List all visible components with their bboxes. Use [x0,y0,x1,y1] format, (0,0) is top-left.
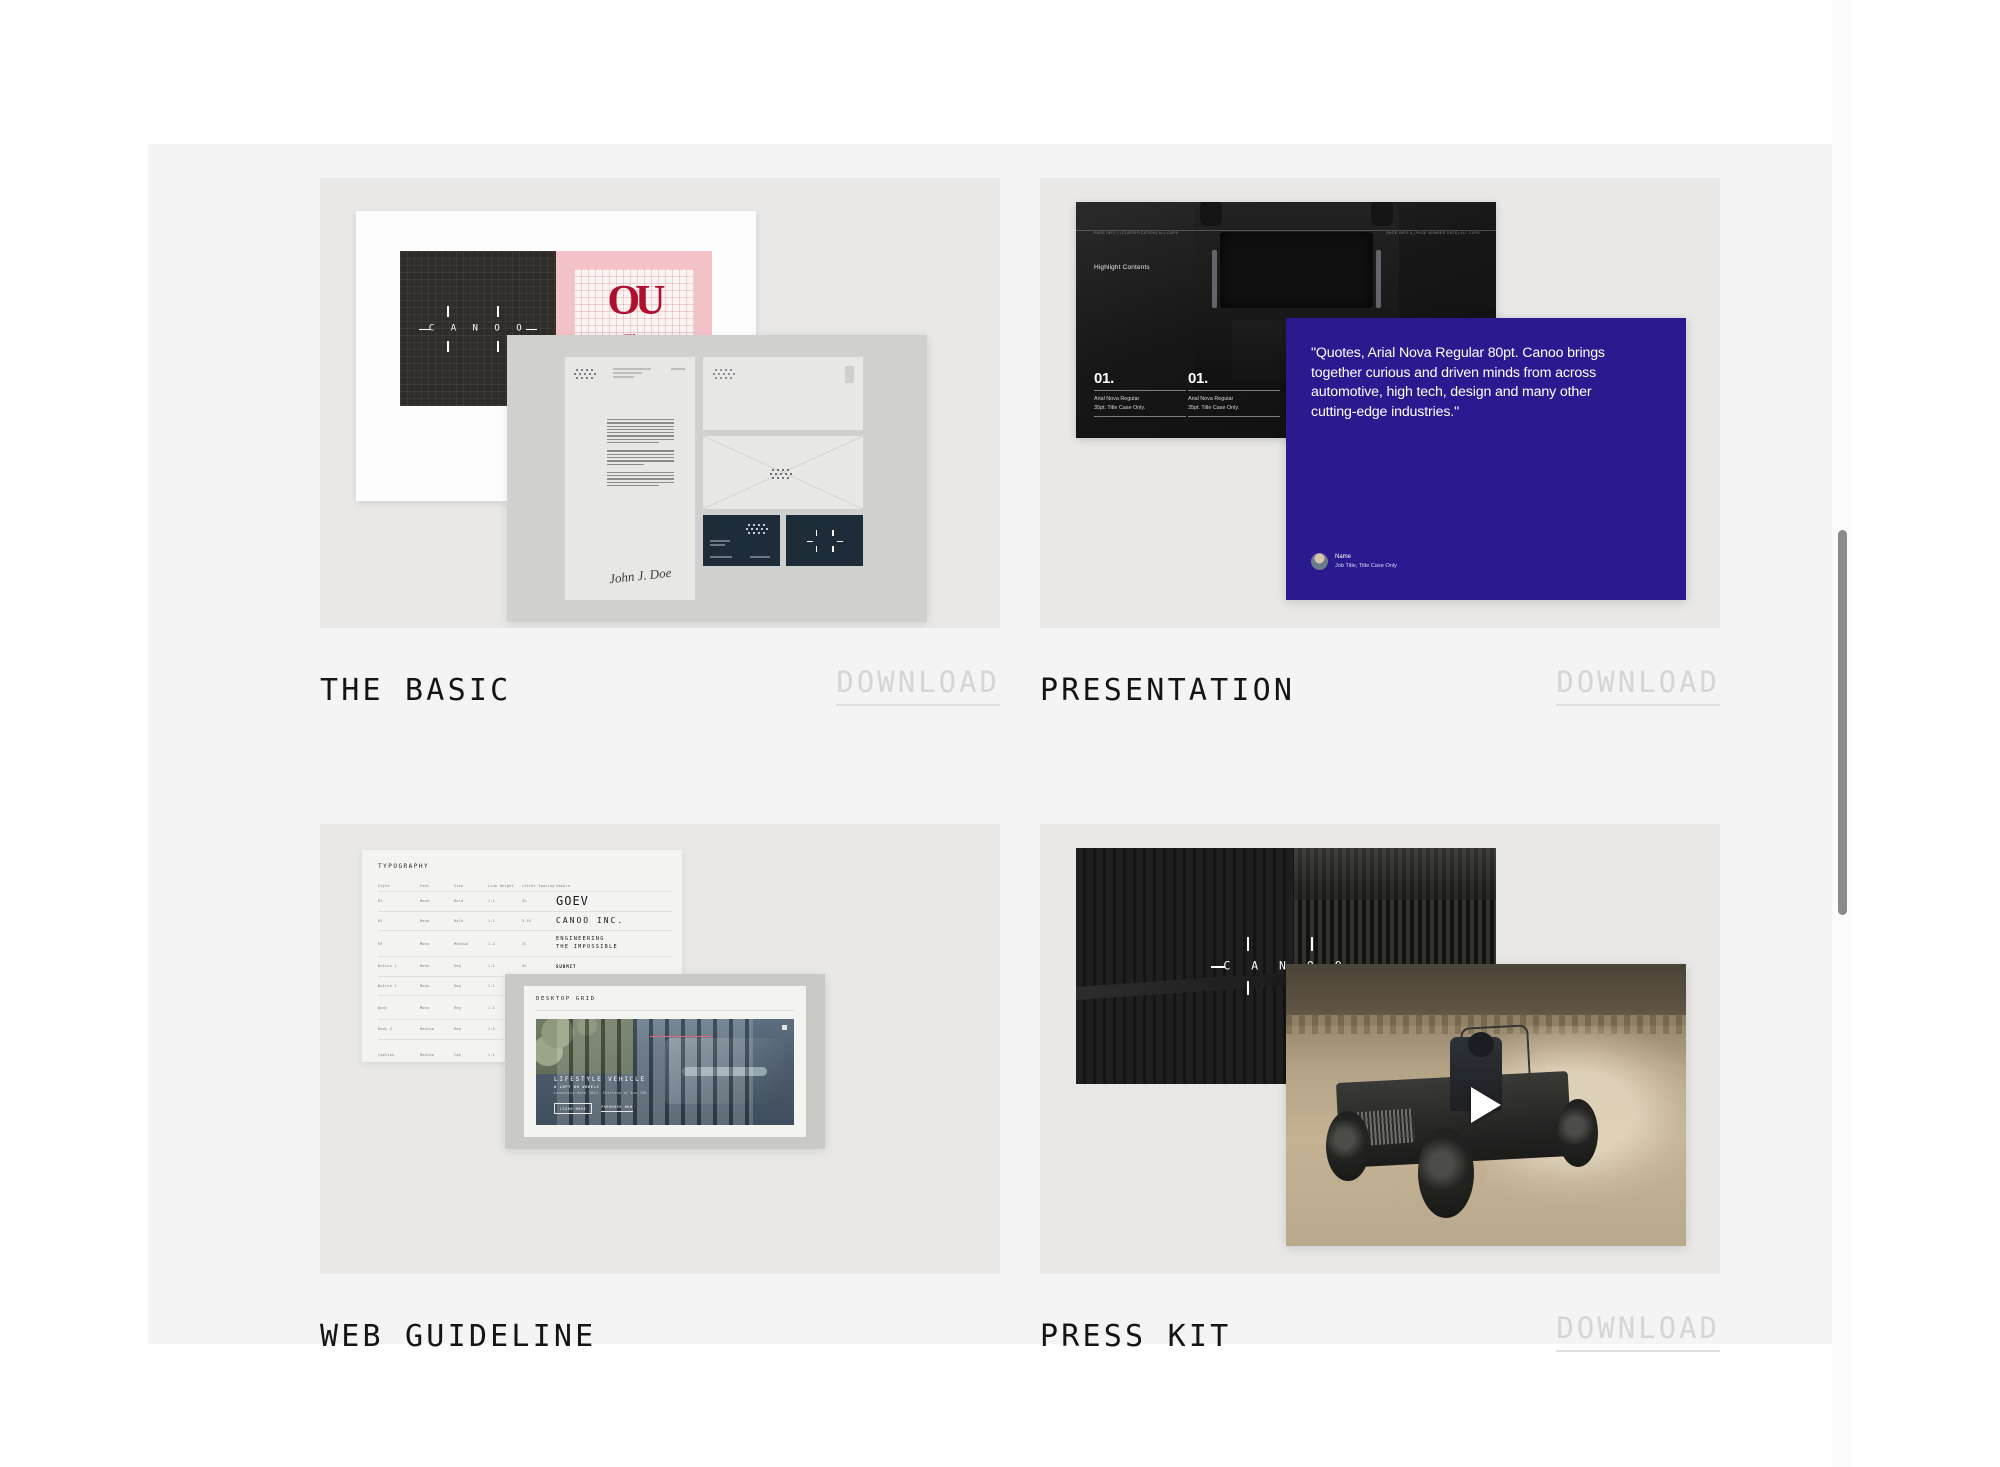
letterhead-address [613,368,655,380]
desktop-grid-sheet: DESKTOP GRID LIFESTYLE VEHICLE A LOFT ON… [505,974,825,1149]
quote-author-role: Job Title, Title Case Only [1335,562,1397,570]
postcard-mock [703,357,863,430]
canoo-logo [807,530,843,552]
cell-style: Button 2 [378,984,420,988]
asset-card-web-guideline[interactable]: TYPOGRAPHY Style Font Size Line Height L… [320,824,1000,1352]
cell-font: Mono [420,899,454,903]
desktop-hero-image: LIFESTYLE VEHICLE A LOFT ON WHEELS Launc… [536,1019,794,1125]
table-row: H3 Mono Medium 1.4 3% ENGINEERING THE IM… [378,931,672,957]
canoo-dots-mark [770,467,796,479]
scrollbar-thumb[interactable] [1838,530,1847,915]
cell-font: Medium [420,1027,454,1031]
asset-card-the-basic[interactable]: C A N O O OU The [320,178,1000,706]
cell-tracking: 3.5% [522,919,556,923]
download-link[interactable]: DOWNLOAD [836,668,1000,706]
column-header: Line Height [488,884,522,888]
download-link[interactable]: DOWNLOAD [1556,668,1720,706]
asset-meta-web-guideline: WEB GUIDELINE DOWNLOAD [320,1318,1000,1352]
stationery-mockup: John J. Doe [507,335,927,622]
play-triangle-icon[interactable] [1471,1087,1501,1123]
hero-subheading: A LOFT ON WHEELS [554,1085,647,1089]
cell-font: Mono [420,942,454,946]
cell-style: Button 1 [378,964,420,968]
canoo-dots-mark [746,522,772,534]
cell-line-height: 1.4 [488,942,522,946]
cell-style: H3 [378,942,420,946]
cell-sample: CANOO INC. [556,916,672,925]
column-header: Letter Spacing [522,884,556,888]
asset-title: PRESS KIT [1040,1322,1231,1352]
cell-line-height: 1.1 [488,919,522,923]
press-video-thumbnail[interactable] [1286,964,1686,1246]
cell-size: Reg [454,984,488,988]
slide-column-number: 01. [1094,371,1186,386]
postage-stamp [845,366,854,383]
desktop-grid-page: DESKTOP GRID LIFESTYLE VEHICLE A LOFT ON… [524,986,806,1137]
cell-font: Mono [420,964,454,968]
cell-font: Mono [420,984,454,988]
asset-meta-press-kit: PRESS KIT DOWNLOAD [1040,1318,1720,1352]
cell-style: Body 2 [378,1027,420,1031]
redline-marker [650,1036,712,1037]
slide-section-label: Highlight Contents [1094,264,1150,271]
hero-buttons: LEARN MORE PREORDER NOW [554,1103,633,1114]
asset-title: PRESENTATION [1040,676,1295,706]
cell-tracking: 4% [522,964,556,968]
asset-grid: C A N O O OU The [320,178,1700,1352]
cell-size: Cap [454,1053,488,1057]
typography-sheet-title: TYPOGRAPHY [378,863,429,870]
ceiling-light [1294,848,1496,900]
cell-tracking: 3% [522,899,556,903]
canoo-wordmark: C A N O O [429,324,527,333]
asset-thumbnail-presentation[interactable]: PAGE INFO / (CLASSIFICATION) ALL CAPS PA… [1040,178,1720,628]
canoo-dots-mark [574,367,600,379]
cell-line-height: 1.1 [488,899,522,903]
cell-style: Caption [378,1053,420,1057]
cell-font: Mono [420,1006,454,1010]
slide-column: 01. Arial Nova Regular 35pt. Title Case … [1188,371,1280,421]
cell-size: Medium [454,942,488,946]
desktop-grid-title: DESKTOP GRID [536,996,596,1002]
cell-size: Reg [454,964,488,968]
slide-column: 01. Arial Nova Regular 35pt. Title Case … [1094,371,1186,421]
cell-font: Medium [420,1053,454,1057]
asset-card-presentation[interactable]: PAGE INFO / (CLASSIFICATION) ALL CAPS PA… [1040,178,1720,706]
slide-column-number: 01. [1188,371,1280,386]
slide-column-caption-2: 35pt. Title Case Only. [1094,404,1186,412]
envelope-mock [703,436,863,509]
learn-more-button[interactable]: LEARN MORE [554,1103,592,1114]
business-card-front [703,515,780,566]
quote-text: "Quotes, Arial Nova Regular 80pt. Canoo … [1311,344,1618,422]
table-row: H2 Mono Bold 1.1 3.5% CANOO INC. [378,912,672,932]
wheel [1326,1111,1370,1182]
column-header: Size [454,884,488,888]
asset-thumbnail-press-kit[interactable]: C A N O O [1040,824,1720,1274]
asset-meta-presentation: PRESENTATION DOWNLOAD [1040,672,1720,706]
cell-size: Bold [454,919,488,923]
download-link[interactable]: DOWNLOAD [1556,1314,1720,1352]
slide-column-caption-1: Arial Nova Regular [1094,395,1186,403]
slide-column-caption-2: 35pt. Title Case Only. [1188,404,1280,412]
letterhead-body [607,419,681,493]
cell-style: H2 [378,919,420,923]
letterhead-date [671,368,687,372]
cell-size: Bold [454,899,488,903]
column-header: Sample [556,884,570,888]
asset-title: WEB GUIDELINE [320,1322,596,1352]
column-header: Style [378,884,420,888]
quote-author-name: Name [1335,553,1397,562]
business-card-back [786,515,863,566]
slide-header-left: PAGE INFO / (CLASSIFICATION) ALL CAPS [1094,231,1178,235]
wheel [1418,1128,1474,1218]
close-icon[interactable] [782,1025,787,1030]
cell-font: Mono [420,919,454,923]
cell-sample: ENGINEERING THE IMPOSSIBLE [556,936,672,951]
preorder-now-button[interactable]: PREORDER NOW [601,1105,632,1112]
slide-header-right: PAGE INFO & (PAGE NUMBER DATE) ALL CAPS [1386,231,1480,235]
column-header: Font [420,884,454,888]
letterhead-mock: John J. Doe [565,357,695,600]
cell-size: Reg [454,1027,488,1031]
hero-heading: LIFESTYLE VEHICLE [554,1076,647,1083]
asset-card-press-kit[interactable]: C A N O O [1040,824,1720,1352]
business-card-phone [750,556,772,560]
cell-style: Body [378,1006,420,1010]
business-card-name [710,540,732,548]
asset-meta-the-basic: THE BASIC DOWNLOAD [320,672,1000,706]
asset-title: THE BASIC [320,676,511,706]
quote-author: Name Job Title, Title Case Only [1311,553,1397,570]
business-card-contact [710,556,734,560]
avatar [1311,553,1328,570]
cell-tracking: 3% [522,942,556,946]
cell-style: H1 [378,899,420,903]
asset-thumbnail-web-guideline[interactable]: TYPOGRAPHY Style Font Size Line Height L… [320,824,1000,1274]
asset-library-panel: C A N O O OU The [148,144,1848,1344]
hero-meta: Launching Date 2023. Starting at $xx,700 [554,1091,647,1095]
asset-thumbnail-the-basic[interactable]: C A N O O OU The [320,178,1000,628]
letterhead-signature: John J. Doe [608,565,672,587]
table-row: H1 Mono Bold 1.1 3% GOEV [378,892,672,912]
ou-monogram: OU [574,277,694,325]
cell-sample: GOEV [556,894,672,908]
quote-slide: "Quotes, Arial Nova Regular 80pt. Canoo … [1286,318,1686,600]
cell-size: Reg [454,1006,488,1010]
page-scrollbar[interactable] [1832,0,1852,1467]
canoo-dots-mark [713,367,739,379]
cell-sample: SUBMIT [556,964,672,969]
slide-column-caption-1: Arial Nova Regular [1188,395,1280,403]
cell-line-height: 1.1 [488,964,522,968]
hero-copy: LIFESTYLE VEHICLE A LOFT ON WHEELS Launc… [554,1076,647,1096]
wheel [1558,1099,1598,1167]
helmet [1468,1032,1494,1057]
table-header-row: Style Font Size Line Height Letter Spaci… [378,880,672,892]
